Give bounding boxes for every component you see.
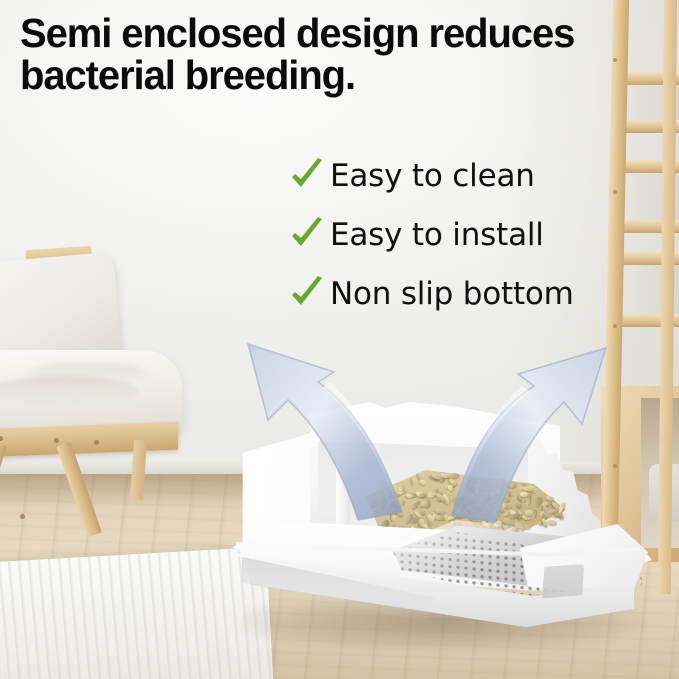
ladder-screw (613, 324, 617, 328)
product-marketing-image: Semi enclosed design reduces bacterial b… (0, 0, 679, 679)
feature-list: Easy to clean Easy to install Non slip b… (288, 146, 668, 323)
litter-pellet (391, 514, 395, 522)
litter-pellet (447, 473, 458, 478)
litter-pellet (389, 492, 400, 496)
litter-pellet (509, 491, 514, 497)
feature-label: Non slip bottom (330, 278, 574, 310)
green-check-icon (288, 275, 326, 313)
futon-sofa (0, 258, 214, 503)
list-item: Easy to clean (288, 146, 668, 205)
litter-box-product (232, 398, 652, 660)
list-item: Easy to install (288, 205, 668, 264)
litter-pellet (418, 518, 423, 526)
sofa-wood-frame (0, 422, 178, 459)
litter-pellet (433, 515, 445, 520)
leg-screw (20, 514, 25, 519)
litter-pellet (525, 497, 530, 505)
litter-pellet (462, 481, 468, 493)
litter-pellet (520, 491, 528, 496)
litter-pellet (457, 512, 468, 517)
litter-pellet (418, 479, 427, 487)
sofa-leg (130, 440, 147, 501)
green-check-icon (288, 157, 326, 195)
frame-screw (94, 440, 99, 445)
litter-pellet (411, 478, 415, 485)
litter-pellet (508, 481, 517, 490)
green-check-icon (288, 216, 326, 254)
litter-pellet (405, 493, 412, 498)
litter-pellet (515, 502, 522, 508)
frame-screw (54, 438, 59, 443)
feature-label: Easy to clean (330, 160, 535, 192)
page-title: Semi enclosed design reduces bacterial b… (20, 12, 652, 96)
list-item: Non slip bottom (288, 264, 668, 323)
litter-pellet (533, 496, 543, 507)
tray-handle-notch (542, 564, 584, 600)
feature-label: Easy to install (330, 219, 544, 251)
